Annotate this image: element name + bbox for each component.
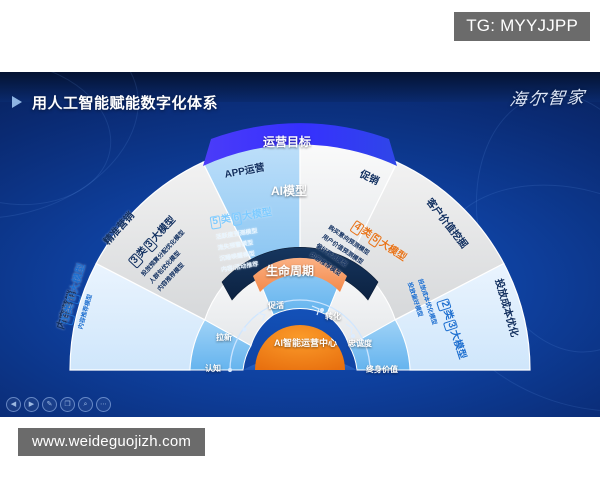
play-triangle-icon xyxy=(12,96,22,108)
play-icon[interactable]: ▶ xyxy=(24,397,39,412)
model-count-num: 5 xyxy=(210,215,221,229)
lifecycle-stage-loyalty: 忠诚度 xyxy=(348,338,372,349)
lifecycle-stage-cognition: 认知 xyxy=(205,363,221,374)
more-icon[interactable]: ⋯ xyxy=(96,397,111,412)
lifecycle-stage-conversion: 转化 xyxy=(325,311,341,322)
screenshot-root: TG: MYYJJPP 用人工智能赋能数字化体系 海尔智家 xyxy=(0,0,600,480)
goal-band-label: 运营目标 xyxy=(263,133,311,150)
slide-toolbar[interactable]: ◀ ▶ ✎ ❐ ⌕ ⋯ xyxy=(6,397,111,412)
watermark: www.weideguojizh.com xyxy=(18,428,205,456)
fan-svg xyxy=(0,110,600,400)
lifecycle-stage-acquisition: 拉新 xyxy=(216,332,232,343)
core-label: AI智能运营中心 xyxy=(274,338,326,349)
prev-icon[interactable]: ◀ xyxy=(6,397,21,412)
model-group-5-block: 5类6大模型 活跃度预测模型 流失预警模型 沉睡唤醒模型 内容/活动推荐 xyxy=(208,203,279,265)
ai-model-band-label: AI模型 xyxy=(271,182,307,199)
fan-diagram: 运营目标 AI模型 生命周期 AI智能运营中心 内容营销 精准营销 APP运营 … xyxy=(0,110,600,400)
presentation-slide: 用人工智能赋能数字化体系 海尔智家 xyxy=(0,72,600,417)
pen-icon[interactable]: ✎ xyxy=(42,397,57,412)
lifecycle-stage-lifetime-value: 终身价值 xyxy=(366,364,398,375)
copy-icon[interactable]: ❐ xyxy=(60,397,75,412)
search-icon[interactable]: ⌕ xyxy=(78,397,93,412)
brand-logo: 海尔智家 xyxy=(509,83,588,111)
lifecycle-stage-activation: 促活 xyxy=(268,300,284,311)
tg-badge: TG: MYYJJPP xyxy=(454,12,590,41)
